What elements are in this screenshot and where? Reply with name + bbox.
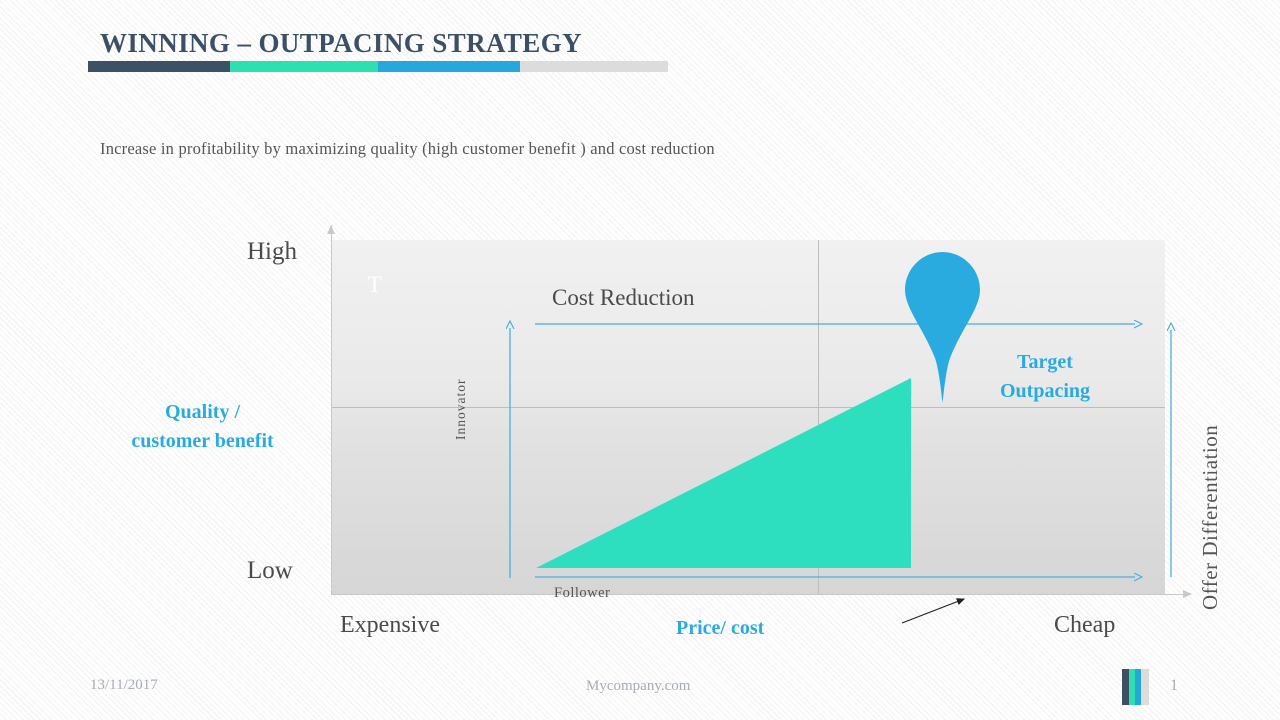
chart-panel: Cost Reduction Innovator Follower Offer … xyxy=(332,240,1165,594)
label-innovator: Innovator xyxy=(453,379,469,440)
title-rule-segment-3 xyxy=(378,61,520,72)
page-title: WINNING – OUTPACING STRATEGY xyxy=(100,28,582,59)
axis-tick-expensive: Expensive xyxy=(340,612,440,639)
title-rule-segment-1 xyxy=(88,61,230,72)
label-cost-reduction: Cost Reduction xyxy=(552,285,694,311)
outpacing-triangle xyxy=(536,378,911,568)
offer-differentiation-arrow-icon xyxy=(1166,322,1176,577)
label-target-line-1: Target xyxy=(1017,351,1073,373)
footer-bar-1 xyxy=(1122,669,1129,705)
follower-axis-arrow-icon xyxy=(535,572,1145,582)
y-axis-label-line-1: Quality / xyxy=(165,401,240,423)
label-follower: Follower xyxy=(554,585,610,602)
x-axis-label: Price/ cost xyxy=(676,617,764,640)
page-subtitle: Increase in profitability by maximizing … xyxy=(100,139,715,159)
footer-page-number: 1 xyxy=(1170,677,1178,695)
footer-accent-bars xyxy=(1122,669,1149,705)
title-rule-segment-4 xyxy=(520,61,668,72)
target-pin-icon[interactable] xyxy=(900,250,985,405)
title-accent-rule xyxy=(88,61,668,72)
apex-arrow-icon xyxy=(902,595,972,625)
footer-bar-4 xyxy=(1141,669,1149,705)
label-target-line-2: Outpacing xyxy=(1000,380,1090,402)
label-offer-differentiation: Offer Differentiation xyxy=(1198,425,1223,610)
label-target-outpacing: Target Outpacing xyxy=(965,348,1125,406)
slide-canvas: WINNING – OUTPACING STRATEGY Increase in… xyxy=(0,0,1280,720)
title-rule-segment-2 xyxy=(230,61,378,72)
target-pin-letter: T xyxy=(332,272,417,298)
footer-date: 13/11/2017 xyxy=(90,677,158,694)
strategy-matrix-chart: Cost Reduction Innovator Follower Offer … xyxy=(230,215,1205,615)
axis-tick-cheap: Cheap xyxy=(1054,612,1115,639)
cost-reduction-arrow-icon xyxy=(535,319,1145,329)
footer-company: Mycompany.com xyxy=(586,678,690,695)
outer-horizontal-axis xyxy=(331,594,1191,595)
innovator-axis-arrow-icon xyxy=(505,320,515,578)
